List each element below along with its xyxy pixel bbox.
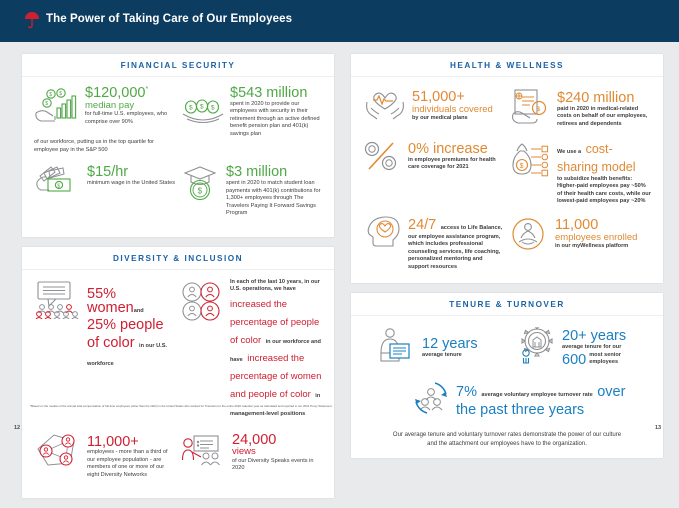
svg-text:$: $ [200,104,204,111]
stat-retirement-body: spent in 2020 to provide our employees w… [230,101,322,138]
stat-medical-costs-body: paid in 2020 in medical-related costs on… [557,106,651,128]
network-people-icon [34,431,82,476]
stat-senior-count-line: 600 most senior employees [562,352,651,368]
financial-security-heading: FINANCIAL SECURITY [22,54,334,77]
stat-diversity-speaks-body: of our Diversity Speaks events in 2020 [232,458,322,473]
stat-senior-count-body: most senior employees [589,352,651,368]
stat-diversity-speaks-text: 24,000 views of our Diversity Speaks eve… [232,431,322,473]
cash-fan-icon: $ [34,162,82,201]
tenure-turnover-body: 12 years average tenure [351,316,663,458]
stat-student-loan-value: $3 million [226,165,322,180]
presenter-audience-icon [181,434,227,473]
stat-minimum-wage: $ $15/hr minimum wage in the United Stat… [34,162,175,217]
stat-cost-sharing-value: cost-sharing model [557,142,636,174]
umbrella-icon [24,11,40,29]
stat-average-tenure-body: average tenure [422,352,511,359]
meditating-person-icon [510,218,550,257]
svg-text:$: $ [198,187,203,196]
stat-workforce-diversity-text: 55% womenand 25% people of color in our … [87,279,175,371]
stat-average-tenure-text: 12 years average tenure [422,327,511,359]
stat-median-pay: $ $ $ $120,000* median pay for full-time… [34,86,175,138]
page-title: The Power of Taking Care of Our Employee… [46,14,292,26]
stat-turnover-rate-text: 7% average voluntary employee turnover r… [456,380,626,419]
stat-turnover-body: average voluntary employee turnover rate [481,392,592,398]
stat-cost-sharing-text: We use a cost-sharing model to subsidize… [557,140,651,206]
svg-text:$: $ [189,105,193,112]
svg-text:$: $ [59,91,62,97]
stat-medical-costs: $ $240 million paid in 2020 in medical-r… [510,86,651,131]
page-number-left: 12 [14,425,20,431]
stat-individuals-covered-body: by our medical plans [412,115,504,122]
svg-text:$: $ [57,184,60,190]
gear-building-icon [517,327,557,370]
four-people-circles-icon [181,282,225,327]
head-with-heart-icon [363,215,403,254]
card-financial-security: FINANCIAL SECURITY [22,54,334,237]
stat-medical-costs-text: $240 million paid in 2020 in medical-rel… [557,86,651,128]
stat-diversity-speaks: 24,000 views of our Diversity Speaks eve… [181,431,322,480]
stat-retirement-value: $543 million [230,86,322,101]
median-pay-footnote-marker: * [145,86,148,93]
tenure-row-1: 12 years average tenure [363,327,651,370]
header-inner: The Power of Taking Care of Our Employee… [24,11,292,29]
financial-row-1: $ $ $ $120,000* median pay for full-time… [34,86,322,138]
stat-diversity-networks: 11,000+ employees - more than a third of… [34,431,175,480]
infographic-page: The Power of Taking Care of Our Employee… [0,0,679,442]
stat-average-tenure-value: 12 years [422,337,511,352]
stat-mywellness-headline2: employees enrolled [555,233,651,244]
tenure-turnover-heading: TENURE & TURNOVER [351,293,663,316]
diversity-row-1: 55% womenand 25% people of color in our … [34,279,322,420]
stat-mywellness-text: 11,000 employees enrolled in our myWelln… [555,215,651,251]
stat-mywellness-value: 11,000 [555,218,651,233]
svg-text:$: $ [45,101,48,107]
stat-cost-sharing-body: to subsidize health benefits: Higher-pai… [557,176,651,206]
median-pay-wide-note: of our workforce, putting us in the top … [34,139,169,154]
stat-ten-year-progress-text: In each of the last 10 years, in our U.S… [230,279,322,420]
graduation-cap-coin-icon: $ [181,162,221,207]
stat-life-balance-value: 24/7 [408,217,436,233]
stat-zero-increase-value: 0% increase [408,142,504,157]
card-tenure-turnover: TENURE & TURNOVER [351,293,663,458]
stat-diversity-speaks-headline2: views [232,447,322,458]
stat-student-loan-text: $3 million spent in 2020 to match studen… [226,162,322,217]
stat-turnover-value: 7% [456,384,477,400]
stat-zero-increase: 0% increase in employee premiums for hea… [363,140,504,206]
stat-diversity-networks-text: 11,000+ employees - more than a third of… [87,431,175,480]
stat-individuals-covered-text: 51,000+ individuals covered by our medic… [412,86,504,123]
stat-women-suffix: and [134,308,144,314]
card-health-wellness: HEALTH & WELLNESS [351,54,663,283]
page-number-right: 13 [655,425,661,431]
card-diversity-inclusion: DIVERSITY & INCLUSION [22,247,334,499]
stat-turnover-headline: 7% average voluntary employee turnover r… [456,383,626,419]
svg-text:$: $ [211,105,215,112]
stat-student-loan-body: spent in 2020 to match student loan paym… [226,180,322,217]
stat-individuals-covered-headline2: individuals covered [412,105,504,116]
stat-retirement-text: $543 million spent in 2020 to provide ou… [230,86,322,138]
financial-row-2: $ $15/hr minimum wage in the United Stat… [34,162,322,217]
health-wellness-body: 51,000+ individuals covered by our medic… [351,77,663,283]
stat-cost-sharing-prefix: We use a [557,149,581,155]
stat-median-pay-body: for full-time U.S. employees, who compri… [85,111,175,126]
person-with-document-icon [377,327,417,368]
diversity-row-2: 11,000+ employees - more than a third of… [34,431,322,480]
stat-turnover-period: over the past three years [456,384,625,418]
stat-life-balance: 24/7 access to Life Balance, our employe… [363,215,504,271]
stat-individuals-covered-value: 51,000+ [412,90,504,105]
stat-minimum-wage-value: $15/hr [87,165,175,180]
ten-year-pre: In each of the last 10 years, in our U.S… [230,279,322,294]
stat-medical-costs-value: $240 million [557,91,651,106]
diversity-inclusion-heading: DIVERSITY & INCLUSION [22,247,334,270]
health-wellness-heading: HEALTH & WELLNESS [351,54,663,77]
left-column: FINANCIAL SECURITY [22,54,334,508]
stat-life-balance-text: 24/7 access to Life Balance, our employe… [408,215,504,271]
footnote: *Based on the median of the annual total… [30,404,450,409]
stat-average-tenure: 12 years average tenure [363,327,511,370]
stat-senior-tenure-body: average tenure for our [562,344,651,351]
stat-ten-year-progress: In each of the last 10 years, in our U.S… [181,279,322,420]
stat-diversity-networks-body: employees - more than a third of our emp… [87,449,175,479]
bowl-of-money-bags-icon: $ $ $ [181,97,225,132]
stat-median-pay-headline2: median pay [85,101,175,112]
stat-retirement-spend: $ $ $ $543 million spent in 2020 to prov… [181,86,322,138]
stat-senior-tenure: 20+ years average tenure for our 600 mos… [517,327,651,370]
stat-senior-count-value: 600 [562,353,586,368]
hands-holding-heart-icon [363,86,407,127]
financial-security-body: $ $ $ $120,000* median pay for full-time… [22,77,334,237]
stat-senior-tenure-text: 20+ years average tenure for our 600 mos… [562,327,651,367]
stat-women-value: 55% womenand [87,287,175,317]
money-bag-checklist-icon: $ [510,142,552,183]
stat-life-balance-body: our employee assistance program, which i… [408,234,504,271]
stat-individuals-covered: 51,000+ individuals covered by our medic… [363,86,504,131]
people-cycle-arrows-icon [411,380,451,421]
stat-life-balance-headline: 24/7 access to Life Balance, [408,216,504,234]
stat-mywellness-body: in our myWellness platform [555,243,651,250]
svg-text:$: $ [537,106,541,113]
health-row-3: 24/7 access to Life Balance, our employe… [363,215,651,271]
stat-zero-increase-text: 0% increase in employee premiums for hea… [408,140,504,172]
stat-student-loan: $ $3 million spent in 2020 to match stud… [181,162,322,217]
speech-bubble-people-icon [34,279,82,324]
stat-median-pay-value: $120,000* [85,86,175,101]
health-row-1: 51,000+ individuals covered by our medic… [363,86,651,131]
tenure-turnover-note: Our average tenure and voluntary turnove… [363,429,651,448]
stat-minimum-wage-body: minimum wage in the United States [87,180,175,187]
svg-text:$: $ [520,163,524,170]
stat-cost-sharing-headline: We use a cost-sharing model [557,140,651,176]
svg-text:$: $ [49,92,52,98]
hand-with-coins-and-bar-chart-icon: $ $ $ [34,86,80,133]
stat-life-balance-suffix: access to Life Balance, [441,225,503,231]
percent-sign-icon [363,140,403,177]
stat-diversity-speaks-value: 24,000 [232,433,322,448]
stat-minimum-wage-text: $15/hr minimum wage in the United States [87,162,175,187]
stat-workforce-diversity: 55% womenand 25% people of color in our … [34,279,175,420]
stat-cost-sharing: $ We use a [510,140,651,206]
page-header: The Power of Taking Care of Our Employee… [0,0,679,42]
diversity-inclusion-body: 55% womenand 25% people of color in our … [22,270,334,499]
medical-bill-hand-icon: $ [510,88,552,131]
stat-median-pay-text: $120,000* median pay for full-time U.S. … [85,86,175,126]
health-row-2: 0% increase in employee premiums for hea… [363,140,651,206]
stat-turnover-rate: 7% average voluntary employee turnover r… [363,380,651,421]
stat-mywellness: 11,000 employees enrolled in our myWelln… [510,215,651,271]
stat-zero-increase-body: in employee premiums for health care cov… [408,157,504,172]
stat-senior-tenure-value: 20+ years [562,329,651,344]
ten-year-highlight-2: increased the percentage of women and pe… [230,353,321,400]
